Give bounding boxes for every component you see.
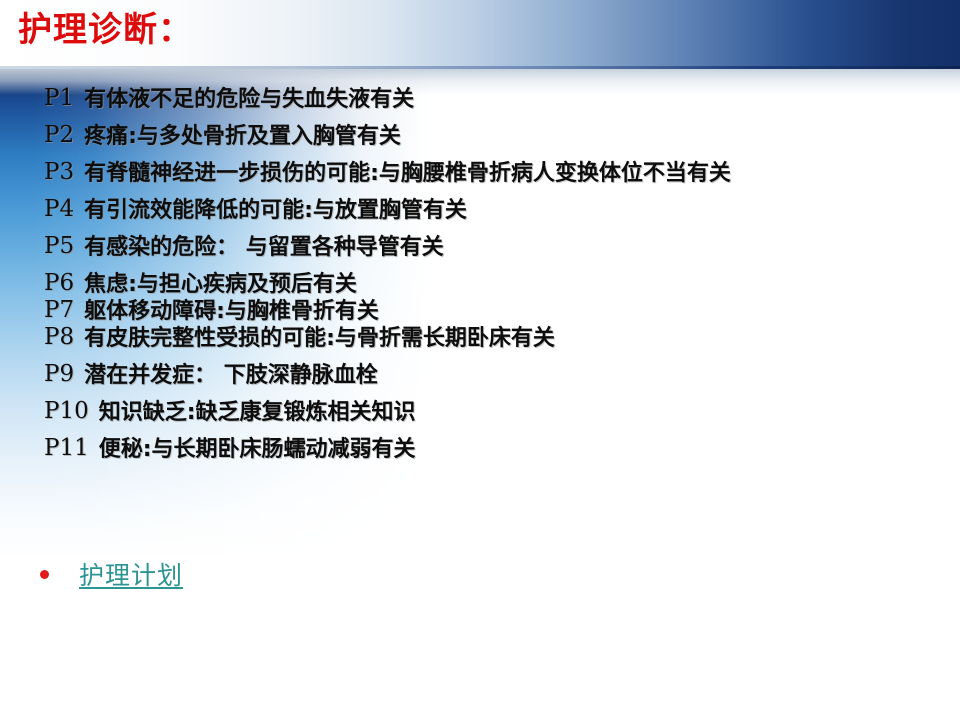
list-item: P3 有脊髓神经进一步损伤的可能:与胸腰椎骨折病人变换体位不当有关: [44, 161, 944, 187]
diagnosis-code: P3: [44, 161, 84, 184]
diagnosis-text: 便秘:与长期卧床肠蠕动减弱有关: [99, 437, 944, 463]
nursing-diagnosis-list: P1 有体液不足的危险与失血失液有关 P2 疼痛:与多处骨折及置入胸管有关 P3…: [44, 87, 944, 462]
diagnosis-code: P6: [44, 272, 84, 295]
list-item: P6 焦虑:与担心疾病及预后有关: [44, 272, 944, 298]
diagnosis-code: P10: [44, 400, 99, 423]
diagnosis-text: 有脊髓神经进一步损伤的可能:与胸腰椎骨折病人变换体位不当有关: [84, 161, 944, 187]
list-item: P11 便秘:与长期卧床肠蠕动减弱有关: [44, 437, 944, 463]
diagnosis-text: 有皮肤完整性受损的可能:与骨折需长期卧床有关: [84, 326, 944, 352]
diagnosis-code: P5: [44, 235, 84, 258]
diagnosis-text: 潜在并发症： 下肢深静脉血栓: [84, 363, 944, 389]
list-item: P1 有体液不足的危险与失血失液有关: [44, 87, 944, 113]
list-item: P8 有皮肤完整性受损的可能:与骨折需长期卧床有关: [44, 326, 944, 352]
diagnosis-text: 有引流效能降低的可能:与放置胸管有关: [84, 198, 944, 224]
diagnosis-code: P2: [44, 124, 84, 147]
nursing-plan-link-row[interactable]: 护理计划: [40, 556, 183, 592]
diagnosis-code: P7: [44, 299, 84, 322]
page-title: 护理诊断：: [18, 13, 193, 47]
nursing-plan-link[interactable]: 护理计划: [79, 556, 183, 592]
diagnosis-text: 有体液不足的危险与失血失液有关: [84, 87, 944, 113]
list-item: P4 有引流效能降低的可能:与放置胸管有关: [44, 198, 944, 224]
diagnosis-code: P4: [44, 198, 84, 221]
diagnosis-text: 有感染的危险： 与留置各种导管有关: [84, 235, 944, 261]
list-item: P10 知识缺乏:缺乏康复锻炼相关知识: [44, 400, 944, 426]
diagnosis-text: 疼痛:与多处骨折及置入胸管有关: [84, 124, 944, 150]
red-dot-bullet-icon: [40, 570, 49, 579]
diagnosis-text: 知识缺乏:缺乏康复锻炼相关知识: [99, 400, 944, 426]
slide-content: P1 有体液不足的危险与失血失液有关 P2 疼痛:与多处骨折及置入胸管有关 P3…: [0, 69, 960, 720]
list-item: P5 有感染的危险： 与留置各种导管有关: [44, 235, 944, 261]
diagnosis-text: 焦虑:与担心疾病及预后有关: [84, 272, 944, 298]
list-item: P7 躯体移动障碍:与胸椎骨折有关: [44, 299, 944, 325]
diagnosis-code: P8: [44, 326, 84, 349]
diagnosis-text: 躯体移动障碍:与胸椎骨折有关: [84, 299, 944, 325]
list-item: P9 潜在并发症： 下肢深静脉血栓: [44, 363, 944, 389]
diagnosis-code: P9: [44, 363, 84, 386]
slide: 护理诊断： P1 有体液不足的危险与失血失液有关 P2 疼痛:与多处骨折及置入胸…: [0, 0, 960, 720]
list-item: P2 疼痛:与多处骨折及置入胸管有关: [44, 124, 944, 150]
slide-header-bar: 护理诊断：: [0, 0, 960, 68]
diagnosis-code: P1: [44, 87, 84, 110]
diagnosis-code: P11: [44, 437, 99, 460]
